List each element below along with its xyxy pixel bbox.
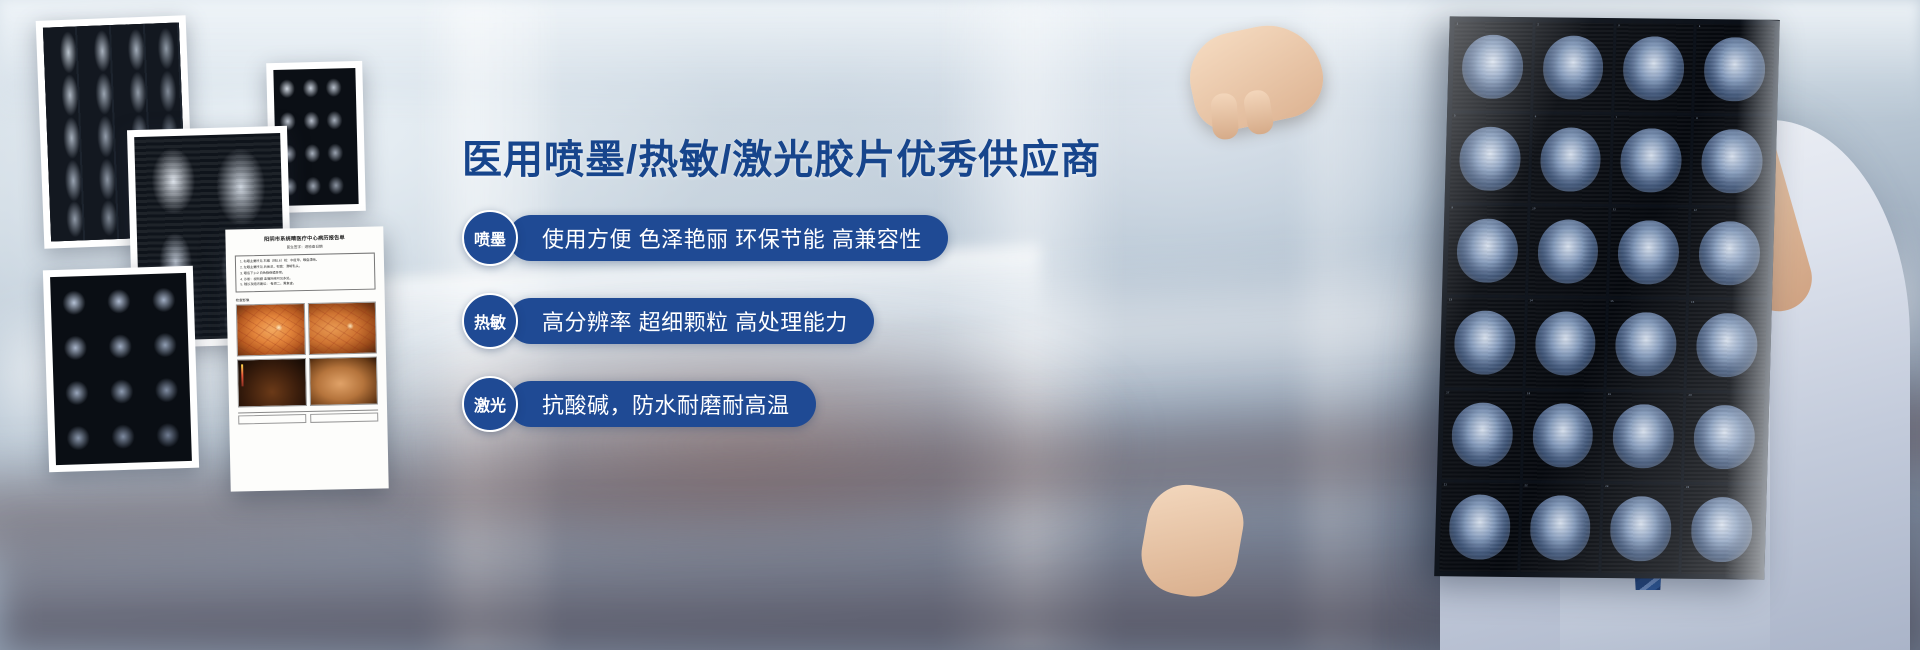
badge-laser: 激光 bbox=[462, 376, 518, 432]
mri-slice: 17 bbox=[1442, 390, 1522, 480]
large-mri-film: 1 2 3 4 5 6 7 8 9 10 11 12 13 14 15 16 1… bbox=[1434, 16, 1780, 579]
page-title: 医用喷墨/热敏/激光胶片优秀供应商 bbox=[462, 138, 1082, 182]
brain-mri-image-bottom bbox=[50, 273, 192, 465]
mri-slice-tag: 17 bbox=[1446, 391, 1449, 394]
mri-slice-tag: 20 bbox=[1689, 394, 1692, 397]
report-footer-cell bbox=[238, 414, 306, 424]
mri-slice: 11 bbox=[1609, 207, 1689, 297]
mri-slice-tag: 12 bbox=[1694, 209, 1697, 212]
mri-slice: 20 bbox=[1684, 392, 1764, 482]
mri-slice-tag: 18 bbox=[1527, 392, 1530, 395]
mri-slice-grid: 1 2 3 4 5 6 7 8 9 10 11 12 13 14 15 16 1… bbox=[1434, 16, 1780, 579]
mri-slice-tag: 1 bbox=[1457, 22, 1459, 25]
mri-slice: 7 bbox=[1611, 115, 1691, 205]
mri-slice-tag: 7 bbox=[1615, 116, 1617, 119]
mri-slice: 12 bbox=[1689, 208, 1769, 298]
mri-slice: 16 bbox=[1687, 300, 1767, 390]
film-collage: 阳阴市系统睛医疗中心病历报告单 医生签字：进检查日期 1. 右眼主要所见 右眼（… bbox=[0, 0, 430, 650]
feature-pill-laser: 抗酸碱，防水耐磨耐高温 bbox=[508, 381, 816, 427]
mri-slice: 22 bbox=[1520, 483, 1600, 573]
mri-slice-tag: 9 bbox=[1451, 207, 1453, 210]
medical-report-sheet: 阳阴市系统睛医疗中心病历报告单 医生签字：进检查日期 1. 右眼主要所见 右眼（… bbox=[225, 226, 388, 491]
hero-banner: 阳阴市系统睛医疗中心病历报告单 医生签字：进检查日期 1. 右眼主要所见 右眼（… bbox=[0, 0, 1920, 650]
mri-slice: 5 bbox=[1450, 114, 1530, 204]
mri-slice: 19 bbox=[1603, 392, 1683, 482]
feature-pill-inkjet: 使用方便 色泽艳丽 环保节能 高兼容性 bbox=[508, 215, 948, 261]
doctor-hand-lower bbox=[1135, 479, 1249, 604]
mri-slice: 8 bbox=[1692, 116, 1772, 206]
mri-slice-tag: 4 bbox=[1699, 25, 1701, 28]
mri-slice: 9 bbox=[1447, 206, 1527, 296]
doctor-photo: 1 2 3 4 5 6 7 8 9 10 11 12 13 14 15 16 1… bbox=[1040, 0, 1920, 650]
mri-slice-tag: 19 bbox=[1608, 393, 1611, 396]
mri-slice: 24 bbox=[1682, 485, 1762, 575]
mri-slice: 14 bbox=[1525, 299, 1605, 389]
report-footer-table bbox=[238, 410, 378, 425]
mri-slice: 10 bbox=[1528, 207, 1608, 297]
fundus-image bbox=[307, 302, 377, 355]
mri-slice-tag: 23 bbox=[1605, 485, 1608, 488]
banner-content: 医用喷墨/热敏/激光胶片优秀供应商 喷墨 使用方便 色泽艳丽 环保节能 高兼容性… bbox=[462, 138, 1082, 432]
mri-slice-tag: 22 bbox=[1524, 484, 1527, 487]
badge-thermal: 热敏 bbox=[462, 293, 518, 349]
ultrasound-image bbox=[308, 357, 377, 406]
brain-mri-film-bottom bbox=[43, 266, 199, 473]
mri-slice: 3 bbox=[1614, 23, 1694, 113]
mri-slice: 4 bbox=[1694, 24, 1774, 114]
mri-slice-tag: 6 bbox=[1535, 115, 1537, 118]
fundus-image bbox=[236, 303, 306, 356]
mri-slice: 1 bbox=[1452, 21, 1532, 111]
mri-slice-tag: 8 bbox=[1696, 117, 1698, 120]
mri-slice: 18 bbox=[1523, 391, 1603, 481]
ultrasound-image-grid bbox=[237, 357, 378, 408]
fundus-image-grid bbox=[236, 302, 377, 357]
mri-slice: 15 bbox=[1606, 299, 1686, 389]
mri-slice-tag: 21 bbox=[1444, 483, 1447, 486]
mri-slice-tag: 24 bbox=[1686, 486, 1689, 489]
ultrasound-image bbox=[237, 358, 306, 407]
feature-row-thermal: 热敏 高分辨率 超细颗粒 高处理能力 bbox=[462, 293, 1082, 349]
mri-slice-tag: 15 bbox=[1610, 301, 1613, 304]
feature-pill-thermal: 高分辨率 超细颗粒 高处理能力 bbox=[508, 298, 874, 344]
feature-row-inkjet: 喷墨 使用方便 色泽艳丽 环保节能 高兼容性 bbox=[462, 210, 1082, 266]
mri-slice-tag: 11 bbox=[1613, 208, 1616, 211]
mri-slice-tag: 5 bbox=[1454, 115, 1456, 118]
feature-row-laser: 激光 抗酸碱，防水耐磨耐高温 bbox=[462, 376, 1082, 432]
mri-slice-tag: 3 bbox=[1618, 24, 1620, 27]
mri-slice: 13 bbox=[1444, 298, 1524, 388]
mri-slice-tag: 13 bbox=[1449, 299, 1452, 302]
mri-slice-tag: 2 bbox=[1537, 23, 1539, 26]
mri-slice: 23 bbox=[1601, 484, 1681, 574]
feature-list: 喷墨 使用方便 色泽艳丽 环保节能 高兼容性 热敏 高分辨率 超细颗粒 高处理能… bbox=[462, 210, 1082, 432]
report-info-box: 1. 右眼主要所见 右眼（视0.6）视：中度甲，眼盘清晰。 2. 左眼主要所见 … bbox=[235, 252, 376, 293]
mri-slice: 2 bbox=[1533, 22, 1613, 112]
doctor-hand-upper bbox=[1181, 15, 1330, 136]
mri-slice-tag: 16 bbox=[1691, 301, 1694, 304]
badge-inkjet: 喷墨 bbox=[462, 210, 518, 266]
mri-slice-tag: 14 bbox=[1530, 300, 1533, 303]
mri-slice: 21 bbox=[1439, 482, 1519, 572]
mri-slice-tag: 10 bbox=[1532, 208, 1535, 211]
report-footer-cell bbox=[310, 413, 378, 423]
mri-slice: 6 bbox=[1530, 114, 1610, 204]
